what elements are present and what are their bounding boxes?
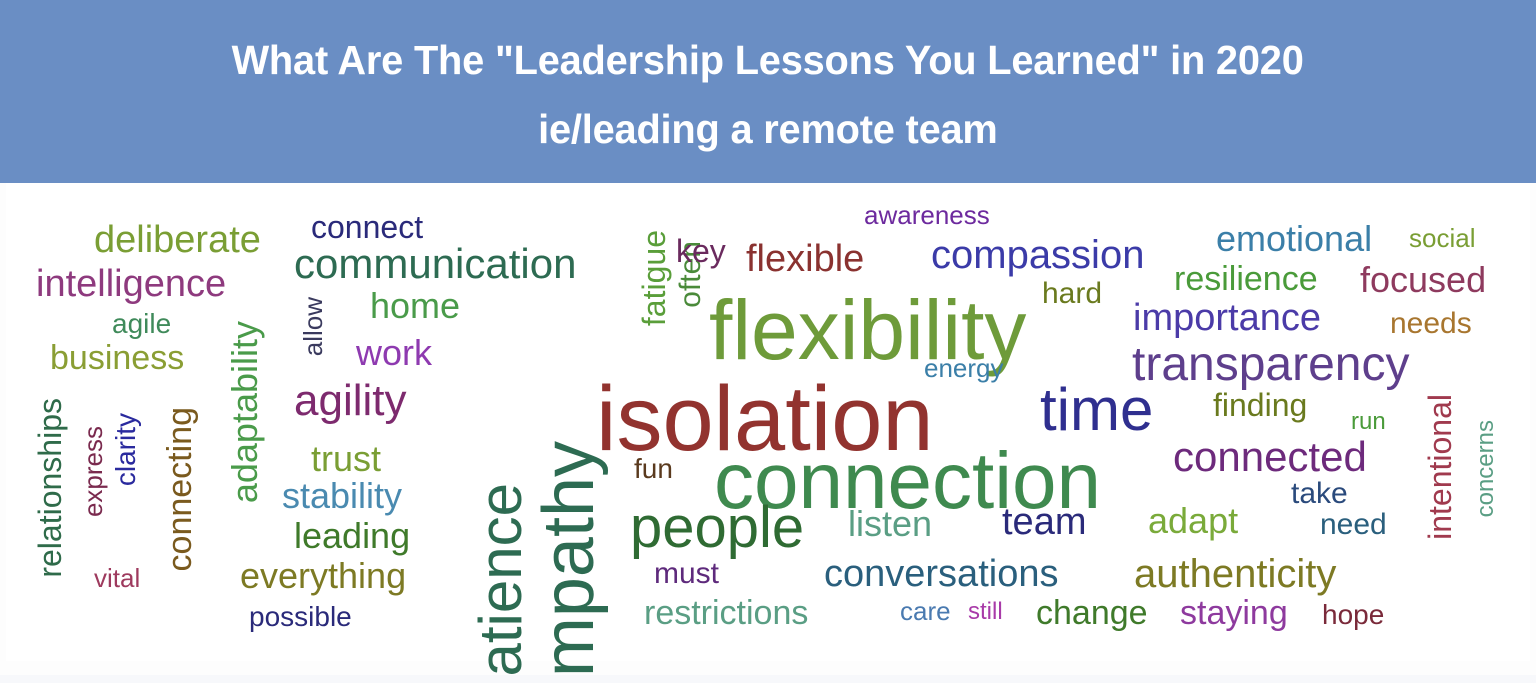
cloud-word: hard xyxy=(1042,279,1102,309)
cloud-word: connected xyxy=(1173,436,1367,478)
cloud-word: stability xyxy=(282,478,402,514)
cloud-word: vital xyxy=(94,565,140,591)
wordcloud-page: What Are The "Leadership Lessons You Lea… xyxy=(0,0,1536,683)
cloud-word: resilience xyxy=(1174,262,1318,296)
wordcloud-canvas: flexibilityisolationconnectionempathypat… xyxy=(0,183,1536,683)
cloud-word: communication xyxy=(294,243,576,285)
page-title-line-2: ie/leading a remote team xyxy=(538,109,998,150)
cloud-word: connecting xyxy=(163,407,197,571)
cloud-word: allow xyxy=(300,297,326,356)
cloud-word: intelligence xyxy=(36,265,226,303)
cloud-word: emotional xyxy=(1216,221,1372,257)
cloud-word: empathy xyxy=(533,441,605,683)
cloud-word: must xyxy=(654,559,719,589)
cloud-word: everything xyxy=(240,558,406,594)
cloud-word: social xyxy=(1409,225,1475,251)
cloud-word: adaptability xyxy=(227,321,263,503)
cloud-word: hope xyxy=(1322,601,1384,629)
cloud-word: trust xyxy=(311,441,381,477)
cloud-word: fatigue xyxy=(638,230,670,326)
cloud-word: staying xyxy=(1180,596,1288,630)
cloud-word: deliberate xyxy=(94,221,261,259)
cloud-word: relationships xyxy=(34,398,66,578)
cloud-word: fun xyxy=(634,455,673,483)
cloud-word: transparency xyxy=(1132,341,1409,389)
cloud-word: agility xyxy=(294,379,407,423)
cloud-word: change xyxy=(1036,596,1148,630)
page-title-line-1: What Are The "Leadership Lessons You Lea… xyxy=(232,40,1304,81)
cloud-word: energy xyxy=(924,355,1004,381)
cloud-word: compassion xyxy=(931,235,1144,275)
cloud-word: business xyxy=(50,341,184,375)
cloud-word: authenticity xyxy=(1134,554,1336,594)
cloud-word: finding xyxy=(1213,389,1307,421)
cloud-word: restrictions xyxy=(644,596,808,630)
cloud-word: clarity xyxy=(112,413,140,486)
cloud-word: home xyxy=(370,288,460,324)
bottom-strip xyxy=(0,675,1536,683)
cloud-word: care xyxy=(900,598,951,624)
cloud-word: key xyxy=(676,235,726,267)
cloud-word: conversations xyxy=(824,555,1058,593)
cloud-word: connect xyxy=(311,211,423,243)
cloud-word: need xyxy=(1320,510,1387,540)
cloud-word: patience xyxy=(471,483,531,683)
cloud-word: concerns xyxy=(1474,420,1498,517)
cloud-word: take xyxy=(1291,479,1348,509)
cloud-word: needs xyxy=(1390,309,1472,339)
cloud-word: leading xyxy=(294,518,410,554)
cloud-word: focused xyxy=(1360,262,1486,298)
cloud-word: work xyxy=(356,335,432,371)
cloud-word: people xyxy=(630,499,804,557)
cloud-word: awareness xyxy=(864,202,990,228)
cloud-word: importance xyxy=(1133,299,1321,337)
cloud-word: intentional xyxy=(1424,394,1456,540)
cloud-word: team xyxy=(1002,503,1086,541)
header-banner: What Are The "Leadership Lessons You Lea… xyxy=(0,0,1536,183)
cloud-word: run xyxy=(1351,410,1386,434)
cloud-word: listen xyxy=(848,506,932,542)
cloud-word: flexible xyxy=(746,240,864,278)
cloud-word: adapt xyxy=(1148,503,1238,539)
cloud-word: still xyxy=(968,600,1003,624)
cloud-word: possible xyxy=(249,603,352,631)
cloud-word: express xyxy=(80,426,106,517)
wordcloud-words-container: flexibilityisolationconnectionempathypat… xyxy=(6,183,1530,661)
cloud-word: agile xyxy=(112,310,171,338)
